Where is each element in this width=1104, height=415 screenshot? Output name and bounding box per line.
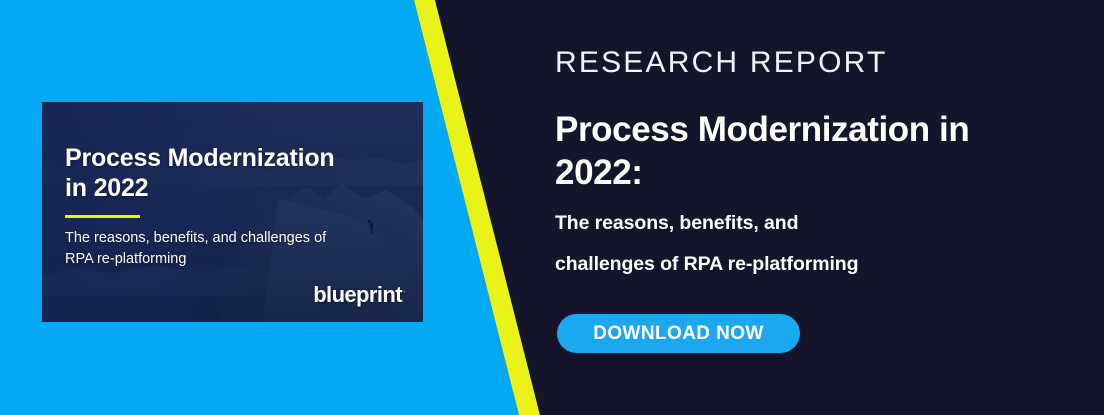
cover-subtitle: The reasons, benefits, and challenges of…	[65, 228, 335, 270]
subheadline-line-2: challenges of RPA re-platforming	[555, 253, 858, 275]
cover-text-block: Process Modernization in 2022 The reason…	[42, 102, 423, 322]
download-now-button[interactable]: DOWNLOAD NOW	[557, 314, 800, 353]
blueprint-logo-text: blueprint	[313, 282, 402, 307]
cover-title: Process Modernization in 2022	[65, 144, 355, 203]
trademark-mark: ·	[403, 287, 405, 296]
subheadline-line-1: The reasons, benefits, and	[555, 212, 798, 234]
research-report-banner: Process Modernization in 2022 The reason…	[0, 0, 1104, 415]
promo-content: RESEARCH REPORT Process Modernization in…	[555, 0, 1055, 415]
page-title: Process Modernization in 2022:	[555, 108, 995, 195]
eyebrow-label: RESEARCH REPORT	[555, 48, 888, 78]
blueprint-logo: blueprint·	[313, 282, 405, 308]
ebook-cover-thumbnail[interactable]: Process Modernization in 2022 The reason…	[42, 102, 423, 322]
subheadline: The reasons, benefits, andchallenges of …	[555, 203, 975, 285]
cover-accent-rule	[65, 215, 140, 218]
